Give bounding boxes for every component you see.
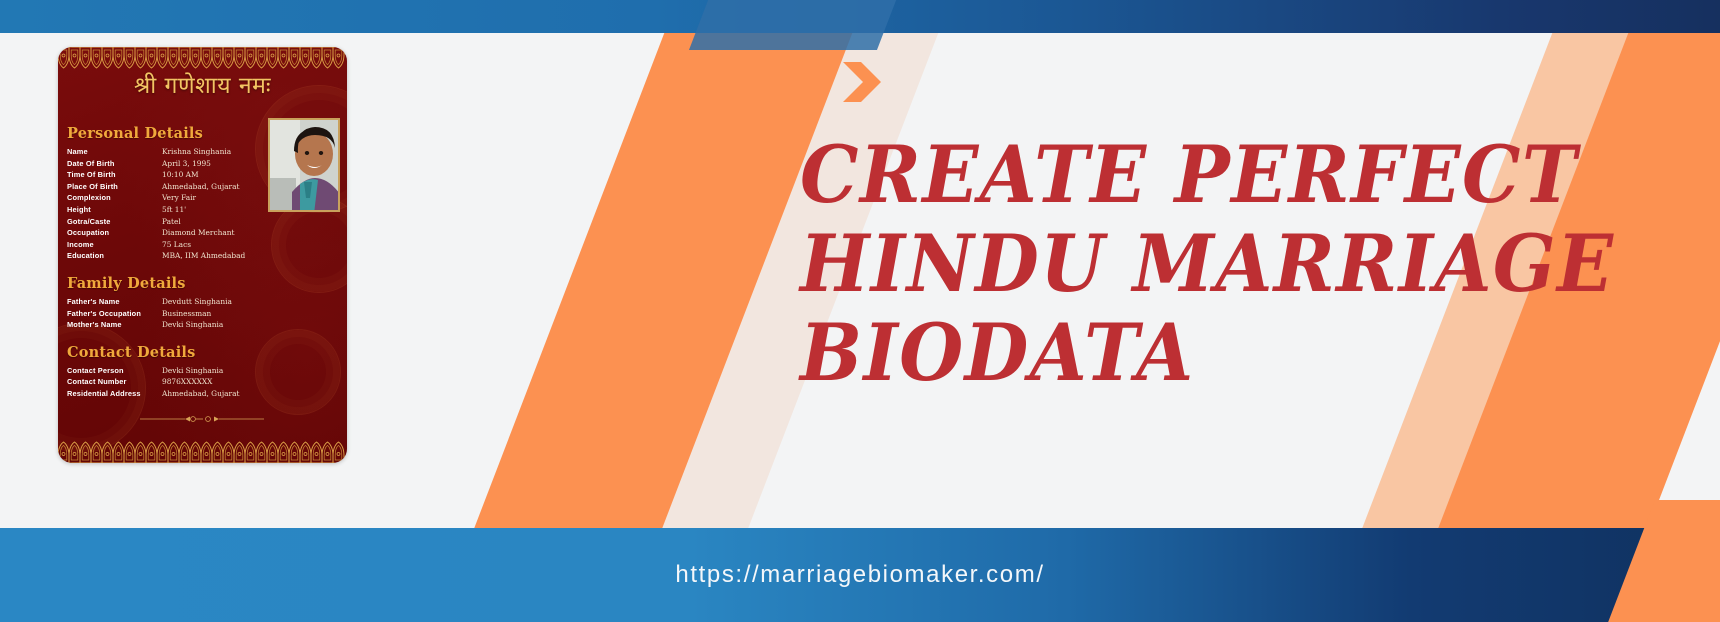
table-row: Residential AddressAhmedabad, Gujarat [67, 388, 267, 400]
biodata-sections: Personal DetailsNameKrishna SinghaniaDat… [67, 125, 267, 413]
table-row: Mother's NameDevki Singhania [67, 319, 267, 331]
detail-value: Devdutt Singhania [162, 296, 267, 308]
detail-value: 9876XXXXXX [162, 376, 267, 388]
detail-value: 5ft 11' [162, 204, 267, 216]
detail-table: Father's NameDevdutt SinghaniaFather's O… [67, 296, 267, 331]
mandala-watermark-icon [255, 329, 341, 415]
biodata-section: Contact DetailsContact PersonDevki Singh… [67, 344, 267, 400]
detail-label: Place Of Birth [67, 181, 162, 193]
invocation-text: श्री गणेशाय नमः [58, 71, 347, 101]
detail-value: Devki Singhania [162, 319, 267, 331]
table-row: Contact Number9876XXXXXX [67, 376, 267, 388]
ornament-border-bottom-icon [58, 441, 347, 463]
detail-value: Ahmedabad, Gujarat [162, 388, 267, 400]
detail-value: Patel [162, 216, 267, 228]
table-row: Place Of BirthAhmedabad, Gujarat [67, 181, 267, 193]
profile-photo [268, 118, 340, 212]
detail-value: Businessman [162, 308, 267, 320]
table-row: Father's NameDevdutt Singhania [67, 296, 267, 308]
detail-value: Very Fair [162, 192, 267, 204]
detail-label: Father's Occupation [67, 308, 162, 320]
headline-line-3: Biodata [800, 308, 1544, 397]
detail-label: Mother's Name [67, 319, 162, 331]
detail-label: Residential Address [67, 388, 162, 400]
detail-value: April 3, 1995 [162, 158, 267, 170]
detail-label: Height [67, 204, 162, 216]
section-title: Personal Details [67, 125, 267, 142]
detail-label: Time Of Birth [67, 169, 162, 181]
detail-value: 75 Lacs [162, 239, 267, 251]
detail-label: Education [67, 250, 162, 262]
table-row: Father's OccupationBusinessman [67, 308, 267, 320]
detail-value: MBA, IIM Ahmedabad [162, 250, 267, 262]
section-title: Family Details [67, 275, 267, 292]
table-row: Height5ft 11' [67, 204, 267, 216]
detail-table: Contact PersonDevki SinghaniaContact Num… [67, 365, 267, 400]
table-row: NameKrishna Singhania [67, 146, 267, 158]
detail-label: Contact Number [67, 376, 162, 388]
detail-table: NameKrishna SinghaniaDate Of BirthApril … [67, 146, 267, 262]
table-row: OccupationDiamond Merchant [67, 227, 267, 239]
biodata-section: Family DetailsFather's NameDevdutt Singh… [67, 275, 267, 331]
detail-label: Name [67, 146, 162, 158]
detail-value: Krishna Singhania [162, 146, 267, 158]
headline-line-2: Hindu Marriage [800, 219, 1544, 308]
detail-label: Contact Person [67, 365, 162, 377]
table-row: Date Of BirthApril 3, 1995 [67, 158, 267, 170]
headline-line-1: Create Perfect [800, 130, 1544, 219]
detail-label: Income [67, 239, 162, 251]
table-row: Contact PersonDevki Singhania [67, 365, 267, 377]
detail-label: Occupation [67, 227, 162, 239]
table-row: ComplexionVery Fair [67, 192, 267, 204]
page-title: Create Perfect Hindu Marriage Biodata [800, 130, 1544, 397]
table-row: Gotra/CastePatel [67, 216, 267, 228]
detail-label: Complexion [67, 192, 162, 204]
table-row: Time Of Birth10:10 AM [67, 169, 267, 181]
biodata-card: श्री गणेशाय नमः Personal DetailsNameKris… [58, 47, 347, 463]
ornament-border-top-icon [58, 47, 347, 71]
table-row: EducationMBA, IIM Ahmedabad [67, 250, 267, 262]
detail-label: Father's Name [67, 296, 162, 308]
website-url[interactable]: https://marriagebiomaker.com/ [0, 528, 1720, 622]
promo-banner: Create Perfect Hindu Marriage Biodata ht… [0, 0, 1720, 622]
section-title: Contact Details [67, 344, 267, 361]
detail-value: Devki Singhania [162, 365, 267, 377]
diagonal-tint-top-band [689, 0, 900, 50]
detail-label: Date Of Birth [67, 158, 162, 170]
table-row: Income75 Lacs [67, 239, 267, 251]
ornament-divider-icon [140, 411, 264, 421]
detail-label: Gotra/Caste [67, 216, 162, 228]
detail-value: 10:10 AM [162, 169, 267, 181]
chevron-right-icon [841, 60, 887, 104]
biodata-section: Personal DetailsNameKrishna SinghaniaDat… [67, 125, 267, 262]
detail-value: Diamond Merchant [162, 227, 267, 239]
detail-value: Ahmedabad, Gujarat [162, 181, 267, 193]
